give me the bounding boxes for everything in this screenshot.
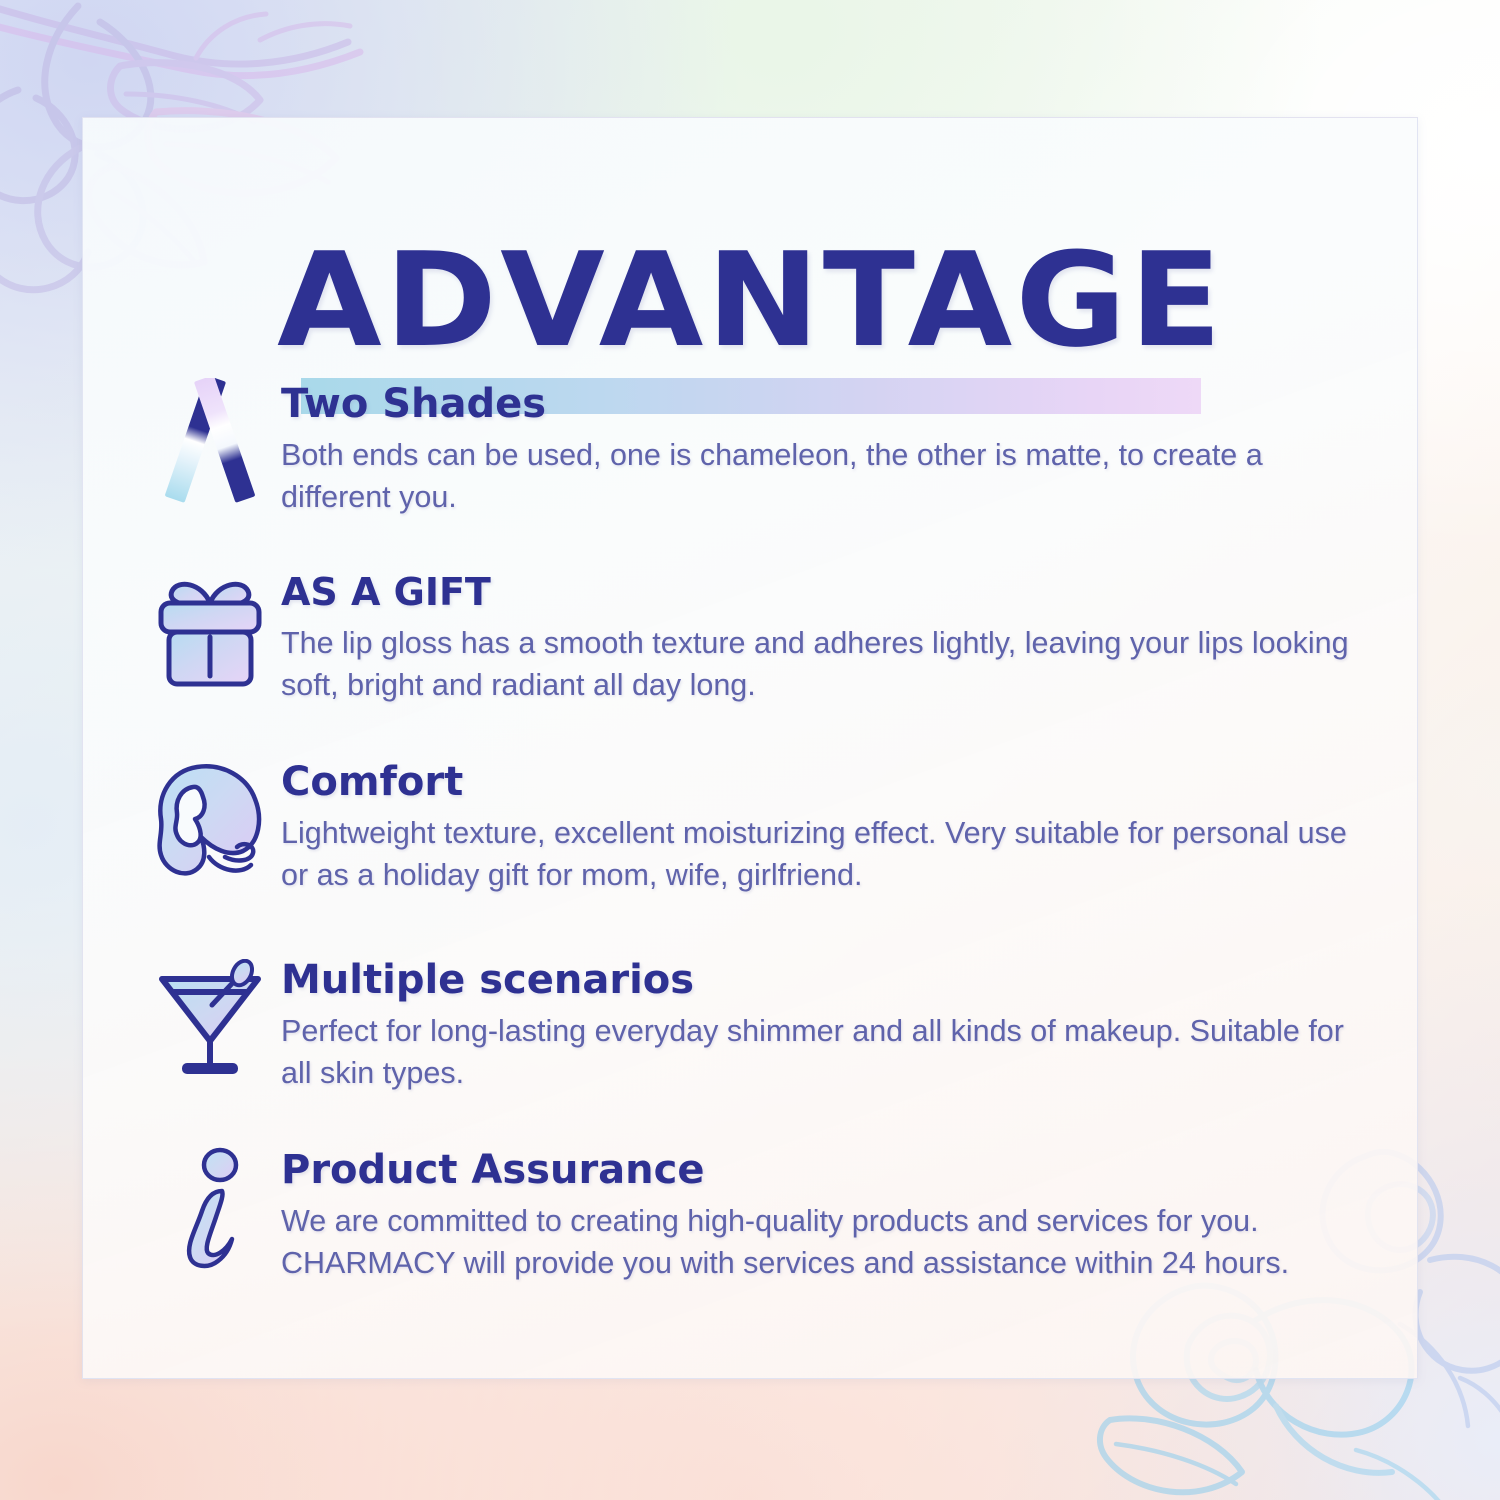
feature-heading: Comfort xyxy=(281,756,1379,808)
information-i-icon xyxy=(139,1142,281,1274)
feature-description: Perfect for long-lasting everyday shimme… xyxy=(281,1010,1379,1094)
cocktail-glass-icon xyxy=(139,952,281,1084)
feature-item-two-shades: Two Shades Both ends can be used, one is… xyxy=(139,376,1379,522)
feature-heading: Two Shades xyxy=(281,378,1379,430)
feature-body: AS A GIFT The lip gloss has a smooth tex… xyxy=(281,564,1379,706)
advantage-poster: ADVANTAGE xyxy=(0,0,1500,1500)
feature-description: Lightweight texture, excellent moisturiz… xyxy=(281,812,1379,896)
feature-item-as-a-gift: AS A GIFT The lip gloss has a smooth tex… xyxy=(139,564,1379,710)
feature-body: Two Shades Both ends can be used, one is… xyxy=(281,376,1379,518)
feature-description: Both ends can be used, one is chameleon,… xyxy=(281,434,1379,518)
feature-description: The lip gloss has a smooth texture and a… xyxy=(281,622,1379,706)
content-card: ADVANTAGE xyxy=(82,117,1418,1379)
feature-item-multiple-scenarios: Multiple scenarios Perfect for long-last… xyxy=(139,952,1379,1098)
feature-item-product-assurance: Product Assurance We are committed to cr… xyxy=(139,1142,1379,1288)
feature-heading: AS A GIFT xyxy=(281,566,1379,618)
feature-list: Two Shades Both ends can be used, one is… xyxy=(139,376,1379,1288)
feature-heading: Multiple scenarios xyxy=(281,954,1379,1006)
page-title: ADVANTAGE xyxy=(56,210,1445,390)
feature-body: Product Assurance We are committed to cr… xyxy=(281,1142,1379,1284)
feature-description: We are committed to creating high-qualit… xyxy=(281,1200,1379,1284)
crossed-lipstick-sticks-icon xyxy=(139,376,281,508)
feature-body: Comfort Lightweight texture, excellent m… xyxy=(281,754,1379,896)
feature-item-comfort: Comfort Lightweight texture, excellent m… xyxy=(139,754,1379,900)
woman-face-profile-icon xyxy=(139,754,281,886)
feature-heading: Product Assurance xyxy=(281,1144,1379,1196)
gift-box-icon xyxy=(139,564,281,696)
feature-body: Multiple scenarios Perfect for long-last… xyxy=(281,952,1379,1094)
